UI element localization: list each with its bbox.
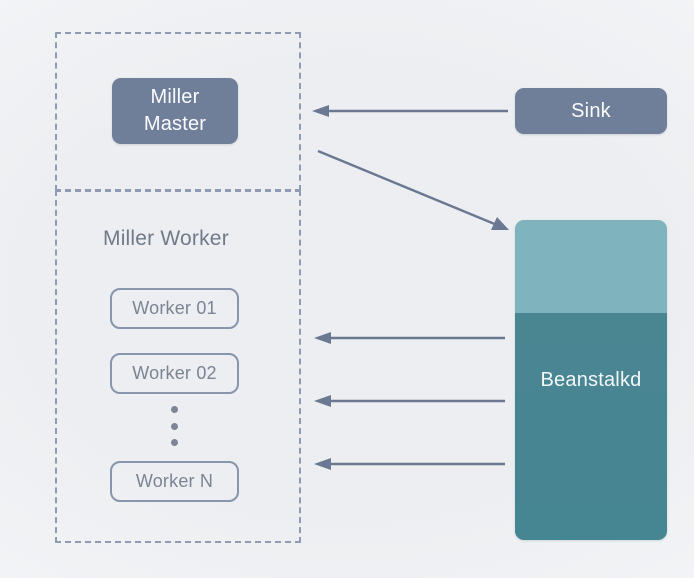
node-worker-n[interactable]: Worker N xyxy=(110,461,239,502)
node-worker-n-label: Worker N xyxy=(136,471,213,492)
ellipsis-dot xyxy=(171,439,178,446)
node-worker-01-label: Worker 01 xyxy=(132,298,217,319)
node-beanstalkd-label: Beanstalkd xyxy=(541,369,642,392)
arrow-master-to-beanstalkd xyxy=(318,151,509,230)
worker-ellipsis-icon xyxy=(169,406,180,446)
diagram-canvas: Miller Master Sink Beanstalkd Miller Wor… xyxy=(0,0,694,578)
ellipsis-dot xyxy=(171,406,178,413)
node-sink-label: Sink xyxy=(571,98,611,125)
node-miller-master[interactable]: Miller Master xyxy=(112,78,238,144)
node-worker-02-label: Worker 02 xyxy=(132,363,217,384)
node-worker-02[interactable]: Worker 02 xyxy=(110,353,239,394)
node-beanstalkd[interactable]: Beanstalkd xyxy=(515,220,667,540)
arrow-beanstalkd-to-worker-02 xyxy=(314,395,505,407)
node-miller-master-line2: Master xyxy=(144,111,206,138)
node-worker-01[interactable]: Worker 01 xyxy=(110,288,239,329)
node-miller-master-line1: Miller xyxy=(144,84,206,111)
ellipsis-dot xyxy=(171,423,178,430)
node-sink[interactable]: Sink xyxy=(515,88,667,134)
worker-group-label: Miller Worker xyxy=(103,227,229,251)
arrow-sink-to-master xyxy=(312,105,508,117)
arrow-beanstalkd-to-worker-01 xyxy=(314,332,505,344)
arrow-beanstalkd-to-worker-n xyxy=(314,458,505,470)
